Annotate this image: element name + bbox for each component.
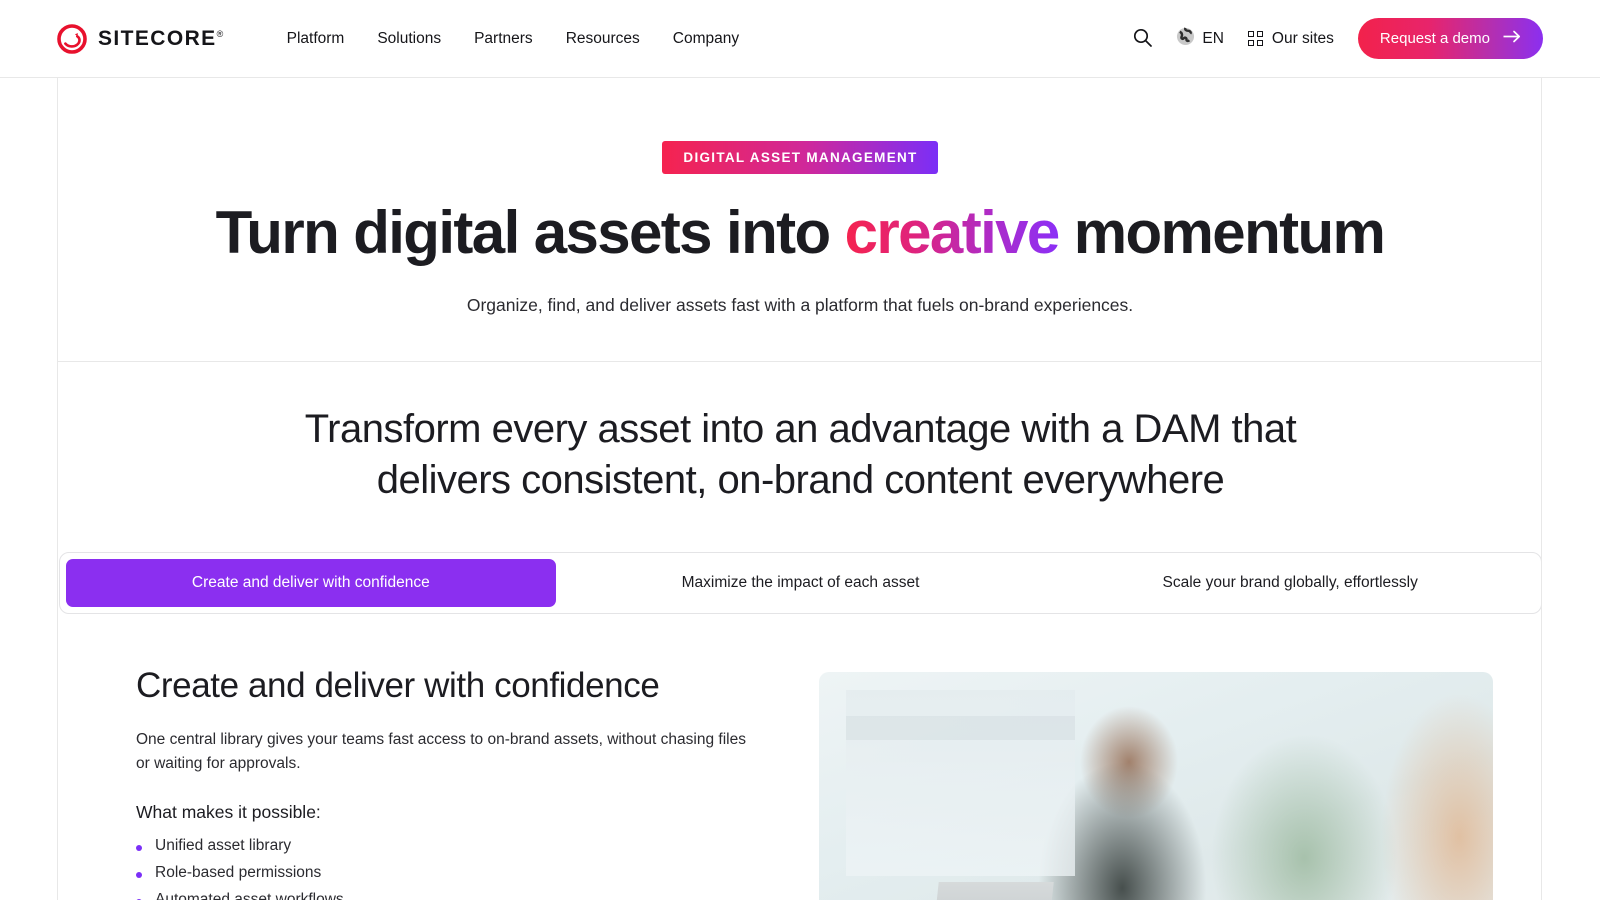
tab-create-and-deliver[interactable]: Create and deliver with confidence bbox=[66, 559, 556, 607]
site-header: SITECORE® Platform Solutions Partners Re… bbox=[0, 0, 1600, 78]
tab-maximize-impact[interactable]: Maximize the impact of each asset bbox=[556, 559, 1046, 607]
logo-wordmark: SITECORE® bbox=[98, 27, 225, 51]
nav-item-partners[interactable]: Partners bbox=[474, 30, 533, 48]
list-item: Automated asset workflows bbox=[136, 891, 819, 900]
logo-trademark: ® bbox=[217, 29, 225, 39]
our-sites-button[interactable]: Our sites bbox=[1248, 30, 1334, 48]
main-navigation: Platform Solutions Partners Resources Co… bbox=[287, 30, 740, 48]
photo-window-backdrop bbox=[846, 690, 1075, 876]
header-actions: EN Our sites Request a demo bbox=[1133, 18, 1543, 59]
content-title: Create and deliver with confidence bbox=[136, 666, 819, 706]
tab-scale-brand[interactable]: Scale your brand globally, effortlessly bbox=[1045, 559, 1535, 607]
sitecore-logo-icon bbox=[57, 24, 87, 54]
page-root: SITECORE® Platform Solutions Partners Re… bbox=[0, 0, 1600, 900]
tab-panel-text: Create and deliver with confidence One c… bbox=[59, 666, 819, 900]
hero-badge: DIGITAL ASSET MANAGEMENT bbox=[662, 141, 937, 174]
globe-icon bbox=[1176, 27, 1195, 51]
photo-laptop bbox=[929, 882, 1053, 900]
hero-title: Turn digital assets into creative moment… bbox=[0, 201, 1600, 265]
grid-icon bbox=[1248, 31, 1263, 46]
tab-panel: Create and deliver with confidence One c… bbox=[59, 666, 1542, 900]
tab-bar: Create and deliver with confidence Maxim… bbox=[59, 552, 1542, 614]
tab-panel-media bbox=[819, 666, 1542, 900]
list-item: Role-based permissions bbox=[136, 864, 819, 882]
request-demo-button[interactable]: Request a demo bbox=[1358, 18, 1543, 59]
content-body: One central library gives your teams fas… bbox=[136, 728, 754, 776]
search-button[interactable] bbox=[1133, 28, 1152, 50]
hero-section: DIGITAL ASSET MANAGEMENT Turn digital as… bbox=[0, 78, 1600, 362]
language-label: EN bbox=[1202, 30, 1224, 48]
our-sites-label: Our sites bbox=[1272, 30, 1334, 48]
hero-title-part2: momentum bbox=[1059, 199, 1385, 266]
nav-item-solutions[interactable]: Solutions bbox=[377, 30, 441, 48]
section-title: Transform every asset into an advantage … bbox=[241, 404, 1361, 506]
logo-wordmark-text: SITECORE bbox=[98, 27, 217, 50]
arrow-right-icon bbox=[1503, 30, 1521, 47]
hero-subtitle: Organize, find, and deliver assets fast … bbox=[0, 295, 1600, 316]
search-icon bbox=[1133, 28, 1152, 50]
hero-title-highlight: creative bbox=[845, 199, 1059, 266]
frame-border-right bbox=[1541, 78, 1542, 900]
hero-title-part1: Turn digital assets into bbox=[216, 199, 845, 266]
list-item: Unified asset library bbox=[136, 837, 819, 855]
nav-item-platform[interactable]: Platform bbox=[287, 30, 345, 48]
nav-item-resources[interactable]: Resources bbox=[566, 30, 640, 48]
nav-item-company[interactable]: Company bbox=[673, 30, 739, 48]
content-list-heading: What makes it possible: bbox=[136, 802, 819, 823]
frame-border-left bbox=[57, 78, 58, 900]
request-demo-label: Request a demo bbox=[1380, 30, 1490, 47]
brand-logo[interactable]: SITECORE® bbox=[57, 24, 225, 54]
office-conversation-photo bbox=[819, 672, 1493, 900]
dam-section: Transform every asset into an advantage … bbox=[0, 362, 1600, 900]
feature-list: Unified asset library Role-based permiss… bbox=[136, 837, 819, 900]
language-selector[interactable]: EN bbox=[1176, 27, 1224, 51]
